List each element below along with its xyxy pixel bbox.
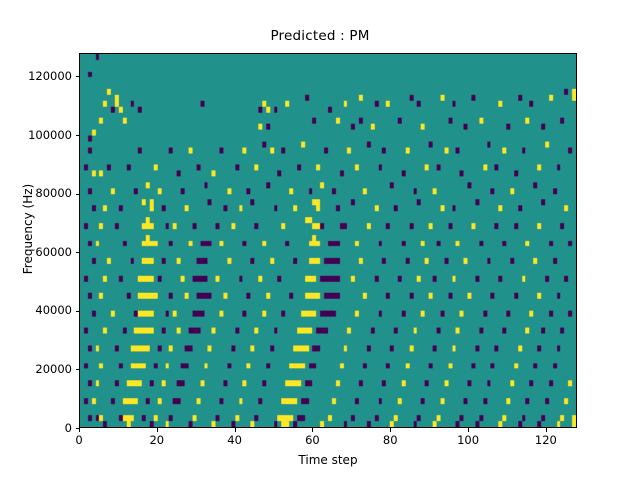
heatmap-axes [79, 53, 577, 428]
y-tick-mark [76, 311, 80, 312]
x-tick-mark [79, 428, 80, 432]
x-tick-mark [468, 428, 469, 432]
y-tick-mark [76, 135, 80, 136]
y-tick-label: 0 [6, 421, 72, 435]
y-tick-label: 80000 [6, 186, 72, 200]
x-tick-label: 60 [282, 433, 342, 447]
x-tick-label: 0 [49, 433, 109, 447]
chart-title: Predicted : PM [0, 28, 640, 44]
x-tick-label: 80 [360, 433, 420, 447]
y-tick-mark [76, 428, 80, 429]
y-tick-mark [76, 76, 80, 77]
y-tick-label: 40000 [6, 303, 72, 317]
y-tick-mark [76, 194, 80, 195]
y-tick-mark [76, 252, 80, 253]
y-tick-mark [76, 369, 80, 370]
y-tick-label: 20000 [6, 362, 72, 376]
x-tick-mark [390, 428, 391, 432]
x-tick-label: 20 [127, 433, 187, 447]
x-tick-mark [312, 428, 313, 432]
heatmap-mesh [80, 54, 576, 427]
x-tick-mark [235, 428, 236, 432]
y-tick-label: 100000 [6, 128, 72, 142]
y-axis-label: Frequency (Hz) [21, 119, 35, 339]
x-tick-label: 40 [205, 433, 265, 447]
x-tick-mark [157, 428, 158, 432]
matplotlib-figure: Predicted : PM 020406080100120 020000400… [0, 0, 640, 480]
x-axis-label: Time step [79, 453, 577, 467]
x-tick-label: 120 [516, 433, 576, 447]
y-tick-label: 120000 [6, 69, 72, 83]
y-tick-label: 60000 [6, 245, 72, 259]
x-tick-mark [546, 428, 547, 432]
x-tick-label: 100 [438, 433, 498, 447]
